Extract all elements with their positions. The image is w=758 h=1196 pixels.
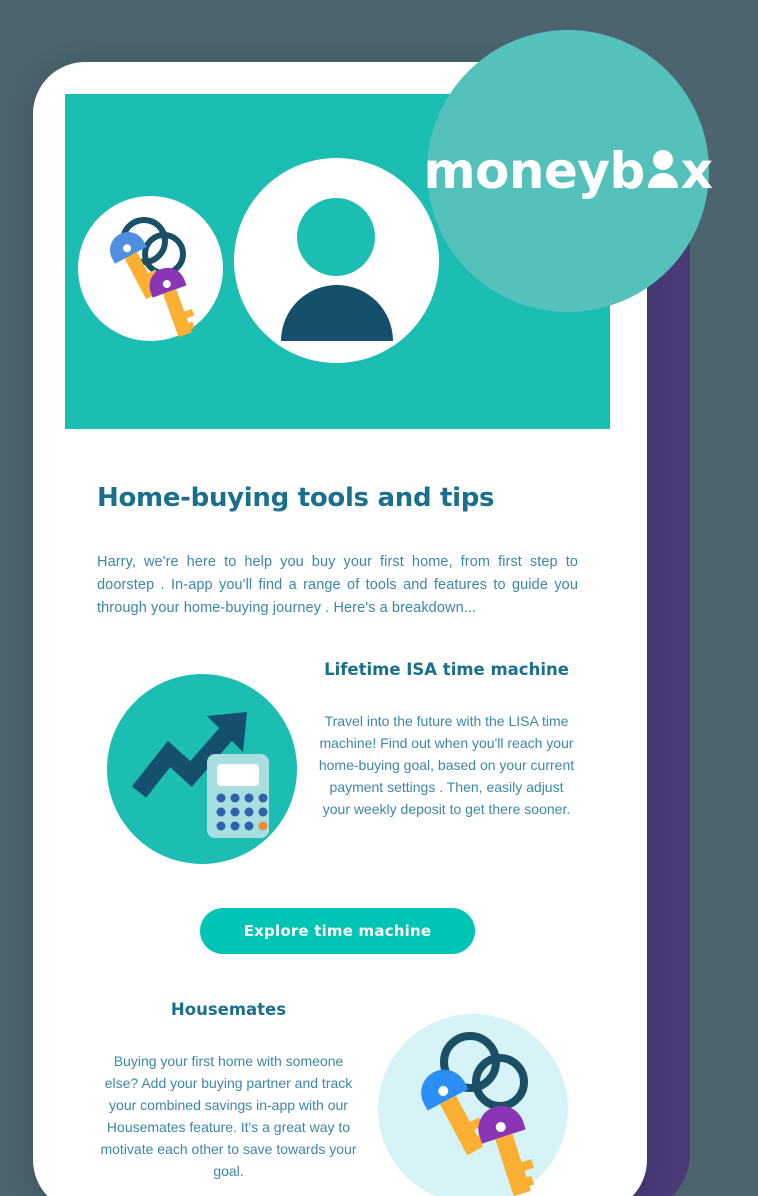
growth-chart-calculator-icon xyxy=(107,674,297,864)
feature-lifetime-isa: Lifetime ISA time machine Travel into th… xyxy=(97,656,578,864)
user-avatar-icon xyxy=(234,158,439,363)
logo-text-before: moneyb xyxy=(423,146,644,196)
moneybox-wordmark: moneyb x xyxy=(423,146,712,196)
person-icon-body xyxy=(648,173,678,188)
intro-paragraph: Harry, we're here to help you buy your f… xyxy=(97,551,578,620)
email-content: Home-buying tools and tips Harry, we're … xyxy=(65,483,610,1196)
person-icon-head xyxy=(653,150,673,170)
feature-copy: Housemates Buying your first home with s… xyxy=(97,996,360,1182)
page-title: Home-buying tools and tips xyxy=(97,483,578,513)
feature-body: Travel into the future with the LISA tim… xyxy=(315,710,578,820)
person-icon xyxy=(646,152,680,190)
logo-text-after: x xyxy=(681,146,713,196)
house-keys-icon xyxy=(78,196,223,341)
feature-title: Lifetime ISA time machine xyxy=(315,656,578,684)
screenshot-stage: Home-buying tools and tips Harry, we're … xyxy=(0,0,758,1196)
cta-wrap: Explore time machine xyxy=(97,908,578,954)
avatar-head xyxy=(297,198,375,276)
avatar-body xyxy=(281,285,393,341)
feature-title: Housemates xyxy=(97,996,360,1024)
feature-housemates: Housemates Buying your first home with s… xyxy=(97,996,578,1196)
explore-time-machine-button[interactable]: Explore time machine xyxy=(200,908,476,954)
moneybox-logo: moneyb x xyxy=(427,30,709,312)
feature-illustration-wrap xyxy=(97,656,307,864)
feature-illustration-wrap xyxy=(368,996,578,1196)
feature-body: Buying your first home with someone else… xyxy=(97,1050,360,1182)
feature-copy: Lifetime ISA time machine Travel into th… xyxy=(315,656,578,820)
house-keys-icon xyxy=(378,1014,568,1196)
